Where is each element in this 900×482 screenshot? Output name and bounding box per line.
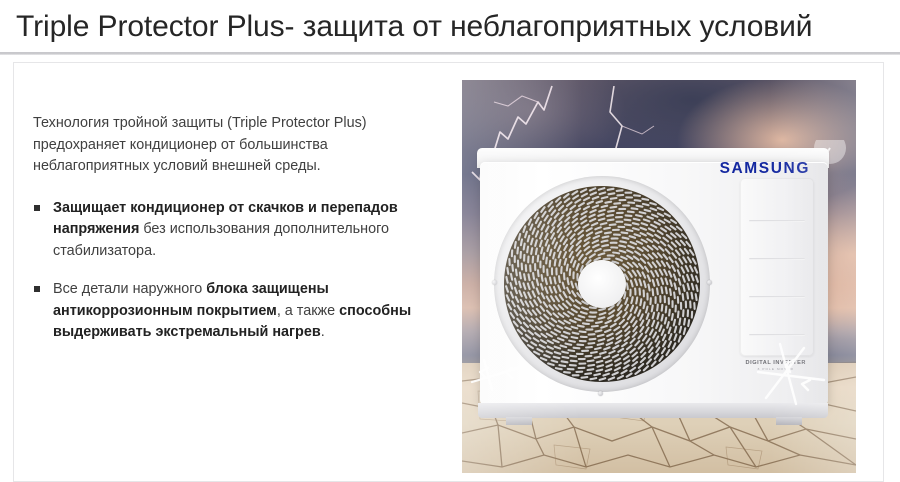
list-item: Все детали наружного блока защищены анти… [33,279,433,344]
intro-paragraph: Технология тройной защиты (Triple Protec… [33,113,433,178]
grille-screw [707,280,712,285]
unit-foot [776,417,802,425]
badge-main-text: DIGITAL INVERTER [746,360,807,366]
panel-ridge [749,220,805,222]
title-divider [0,52,900,55]
bullet-text: Все детали наружного [53,281,206,297]
bullet-marker-icon [34,286,40,292]
product-photo: SAMSUNG DIGITAL INVERTER 8 POLE MOTOR [462,80,856,473]
panel-ridge [749,334,805,336]
digital-inverter-badge: DIGITAL INVERTER 8 POLE MOTOR [746,360,807,371]
grille-screw [492,280,497,285]
air-conditioner-outdoor-unit: SAMSUNG DIGITAL INVERTER 8 POLE MOTOR [480,162,828,405]
panel-ridge [749,258,805,260]
feature-bullet-list: Защищает кондиционер от скачков и перепа… [33,198,433,344]
panel-ridge [749,296,805,298]
text-column: Технология тройной защиты (Triple Protec… [33,113,433,344]
bullet-marker-icon [34,205,40,211]
fan-hub [578,260,626,308]
unit-foot [506,417,532,425]
unit-base [478,403,828,418]
bullet-text: . [321,324,325,340]
list-item: Защищает кондиционер от скачков и перепа… [33,198,433,263]
grille-screw [598,391,603,396]
fan-grille [494,176,710,392]
page-title: Triple Protector Plus- защита от неблаго… [16,9,884,45]
samsung-brand-logo: SAMSUNG [720,160,810,178]
bullet-text: , а также [277,303,339,319]
service-panel [740,178,814,356]
badge-sub-text: 8 POLE MOTOR [746,367,807,371]
